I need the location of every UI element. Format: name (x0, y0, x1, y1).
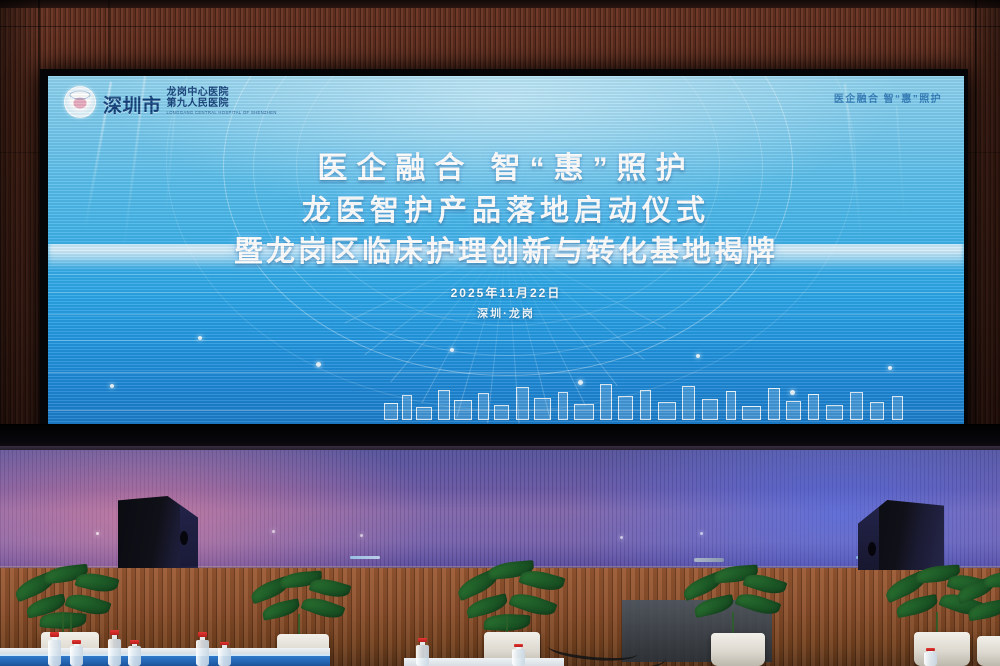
event-location: 深圳·龙岗 (48, 305, 964, 321)
event-date: 2025年11月22日 (48, 284, 964, 301)
conference-hall-scene: 深圳市 龙岗中心医院 第九人民医院 LONGGANG CENTRAL HOSPI… (0, 0, 1000, 666)
led-display[interactable]: 深圳市 龙岗中心医院 第九人民医院 LONGGANG CENTRAL HOSPI… (48, 76, 964, 424)
logo-hospital-name-2: 第九人民医院 (167, 99, 277, 110)
event-meta: 2025年11月22日 深圳·龙岗 (48, 284, 964, 321)
logo-city-label: 深圳市 (103, 97, 162, 116)
potted-plant-4 (680, 560, 796, 666)
water-bottle[interactable] (218, 642, 231, 666)
wall-seam (0, 26, 1000, 27)
water-bottle[interactable] (196, 632, 209, 666)
ceiling-shadow (0, 0, 1000, 8)
title-line-2: 龙医智护产品落地启动仪式 (48, 197, 964, 226)
hospital-emblem-icon (64, 86, 96, 118)
perspective-grid (48, 244, 964, 424)
hospital-logo: 深圳市 龙岗中心医院 第九人民医院 LONGGANG CENTRAL HOSPI… (64, 86, 277, 118)
corner-slogan: 医企融合 智“惠”照护 (834, 90, 942, 105)
water-bottle[interactable] (128, 640, 141, 666)
title-line-3: 暨龙岗区临床护理创新与转化基地揭牌 (48, 238, 964, 267)
event-title: 医企融合 智“惠”照护 龙医智护产品落地启动仪式 暨龙岗区临床护理创新与转化基地… (48, 154, 964, 267)
floor-marker-tape (350, 556, 380, 559)
water-bottle[interactable] (416, 638, 429, 666)
water-bottle[interactable] (48, 632, 61, 666)
potted-plant-6 (956, 568, 1000, 666)
water-bottle[interactable] (512, 644, 525, 666)
water-bottle[interactable] (108, 630, 121, 666)
wall-shadow (0, 0, 45, 470)
logo-english-name: LONGGANG CENTRAL HOSPITAL OF SHENZHEN (167, 111, 277, 116)
water-bottle[interactable] (70, 640, 83, 666)
water-bottle[interactable] (924, 648, 937, 666)
speaker-port-icon (180, 531, 188, 545)
title-line-1: 医企融合 智“惠”照护 (48, 154, 964, 184)
